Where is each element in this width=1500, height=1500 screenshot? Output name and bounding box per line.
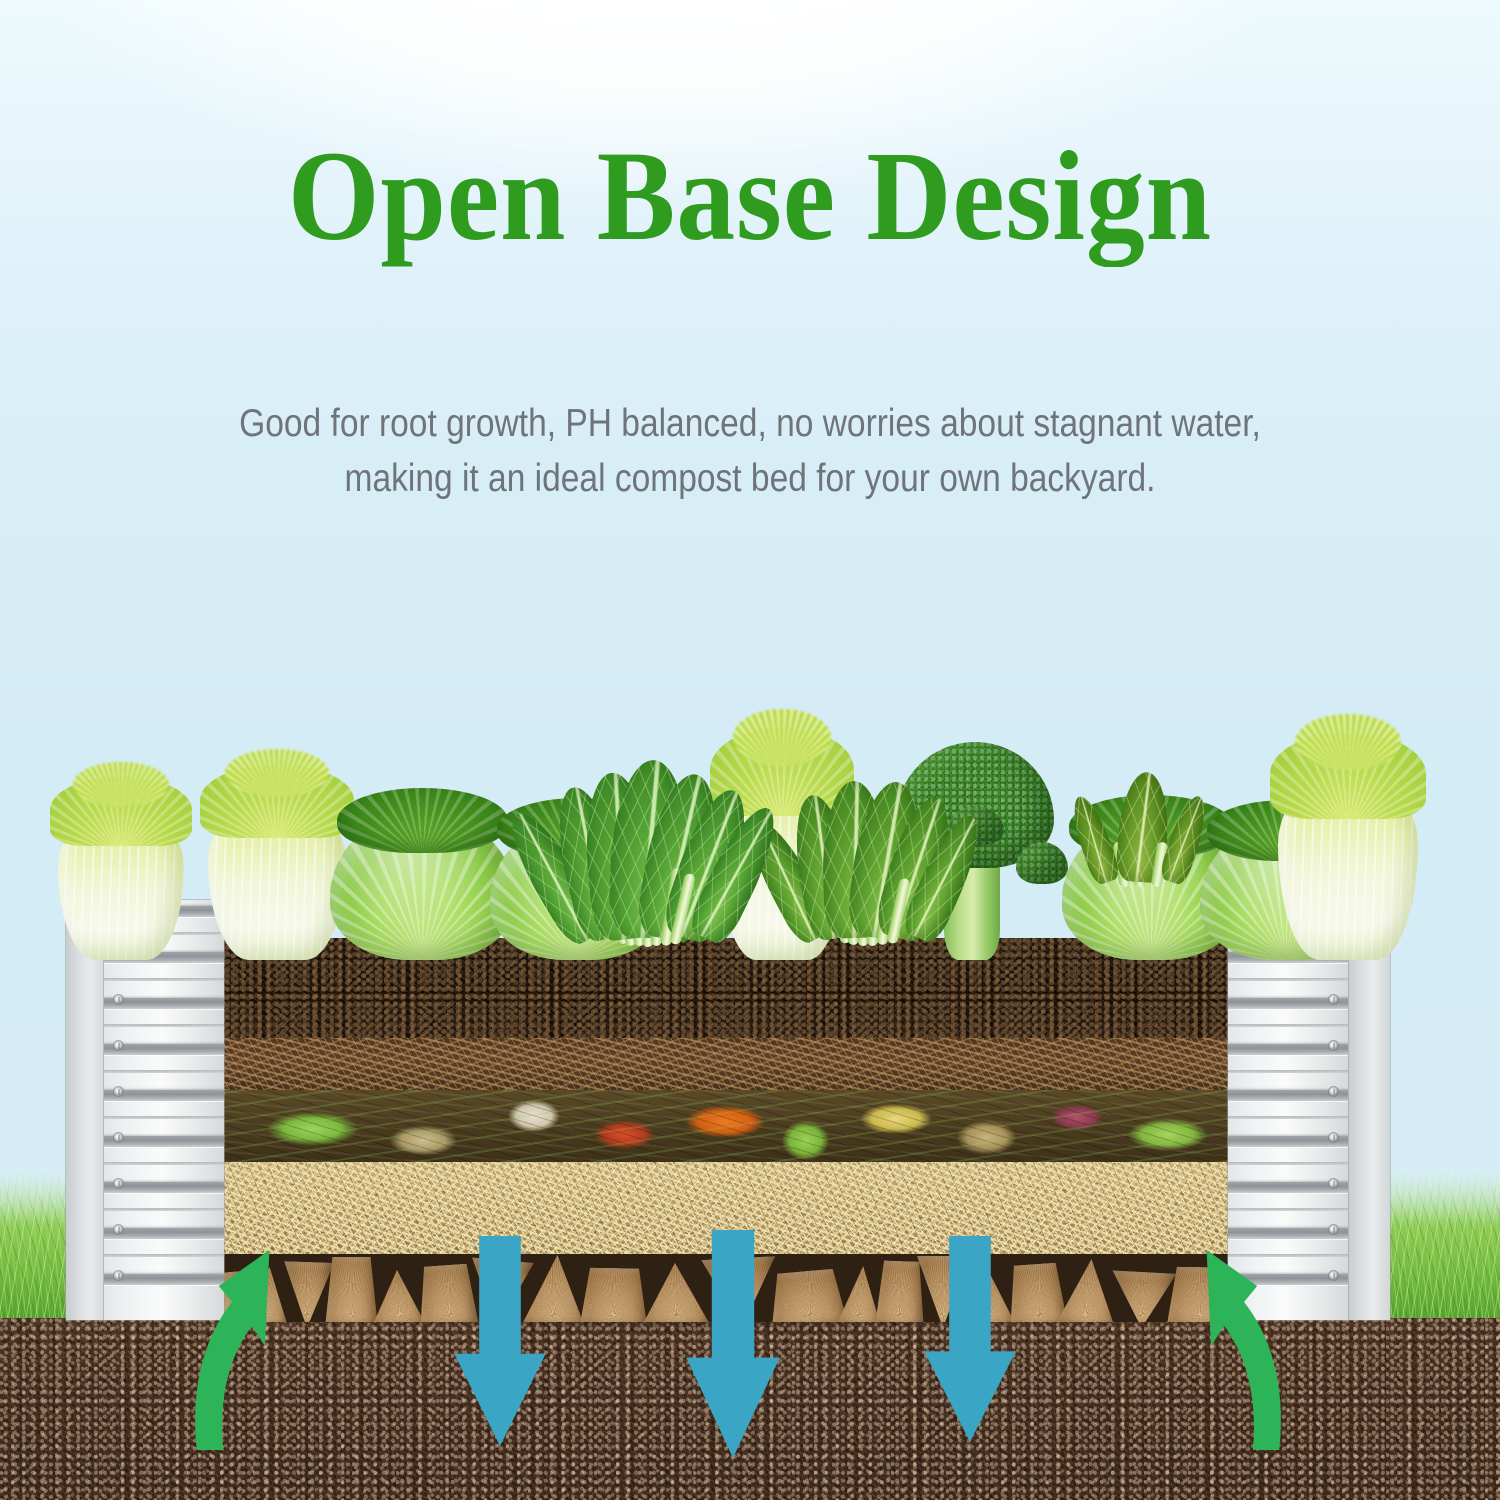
post-screw — [1329, 1133, 1338, 1142]
post-screw — [1329, 1041, 1338, 1050]
napa-cabbage — [58, 810, 184, 960]
nutrient-uptake-arrow-left — [188, 1250, 298, 1450]
post-panel-seam — [1228, 1024, 1348, 1027]
drainage-arrow-1 — [448, 1236, 552, 1446]
flow-arrows — [0, 1230, 1500, 1500]
post-panel-seam — [1228, 1208, 1348, 1211]
promo-graphic: Open Base Design Good for root growth, P… — [0, 0, 1500, 1500]
napa-cabbage — [1278, 774, 1418, 960]
green-cabbage — [330, 812, 515, 960]
post-panel-seam — [1228, 1162, 1348, 1165]
nutrient-uptake-arrow-right — [1178, 1250, 1288, 1450]
drainage-arrow-3 — [918, 1236, 1022, 1442]
post-screw — [1329, 1179, 1338, 1188]
post-screw — [1329, 1087, 1338, 1096]
post-panel-seam — [1228, 1116, 1348, 1119]
napa-cabbage — [208, 800, 346, 960]
drainage-arrow-2 — [680, 1230, 786, 1458]
post-panel-seam — [1228, 978, 1348, 981]
post-screw — [1329, 995, 1338, 1004]
post-panel-seam — [1228, 1070, 1348, 1073]
